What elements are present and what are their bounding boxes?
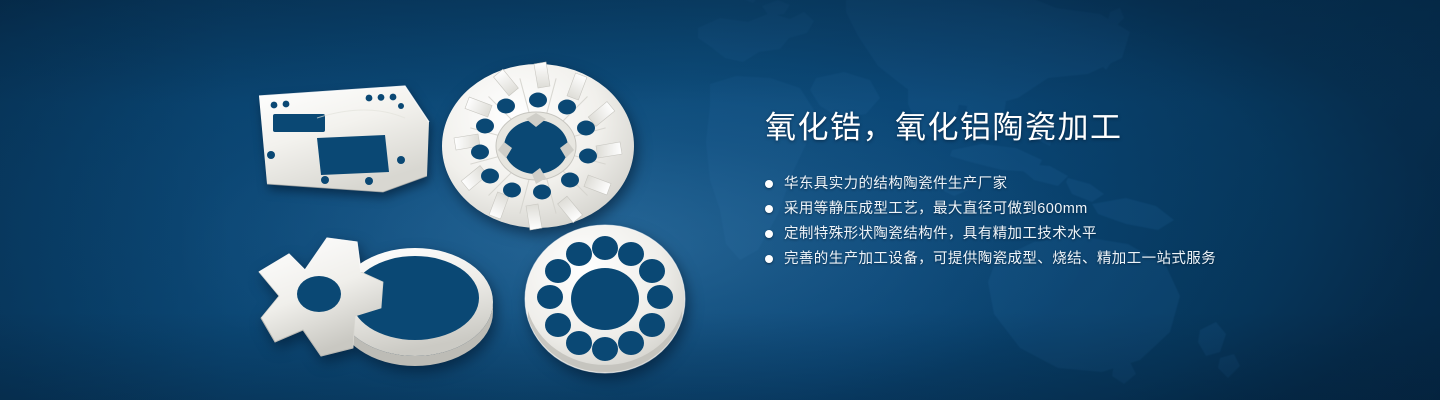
bullet-dot-icon bbox=[765, 180, 773, 188]
list-item-label: 华东具实力的结构陶瓷件生产厂家 bbox=[784, 173, 1008, 195]
list-item: 华东具实力的结构陶瓷件生产厂家 bbox=[765, 173, 1385, 195]
list-item-label: 采用等静压成型工艺，最大直径可做到600mm bbox=[784, 198, 1088, 220]
bullet-dot-icon bbox=[765, 230, 773, 238]
ceramic-machined-plate bbox=[255, 80, 435, 200]
list-item-label: 定制特殊形状陶瓷结构件，具有精加工技术水平 bbox=[784, 223, 1097, 245]
ceramic-vaned-impeller bbox=[430, 50, 650, 235]
bullet-dot-icon bbox=[765, 205, 773, 213]
product-photo-collage bbox=[235, 45, 715, 385]
ceramic-cross-part-and-ring bbox=[245, 220, 515, 380]
hero-banner: 氧化锆，氧化铝陶瓷加工 华东具实力的结构陶瓷件生产厂家 采用等静压成型工艺，最大… bbox=[0, 0, 1440, 400]
feature-list: 华东具实力的结构陶瓷件生产厂家 采用等静压成型工艺，最大直径可做到600mm 定… bbox=[765, 173, 1385, 270]
bullet-dot-icon bbox=[765, 255, 773, 263]
list-item: 完善的生产加工设备，可提供陶瓷成型、烧结、精加工一站式服务 bbox=[765, 248, 1385, 270]
list-item-label: 完善的生产加工设备，可提供陶瓷成型、烧结、精加工一站式服务 bbox=[784, 248, 1216, 270]
list-item: 采用等静压成型工艺，最大直径可做到600mm bbox=[765, 198, 1385, 220]
list-item: 定制特殊形状陶瓷结构件，具有精加工技术水平 bbox=[765, 223, 1385, 245]
ceramic-holed-valve-plate bbox=[510, 215, 700, 380]
banner-copy: 氧化锆，氧化铝陶瓷加工 华东具实力的结构陶瓷件生产厂家 采用等静压成型工艺，最大… bbox=[765, 108, 1385, 273]
page-title: 氧化锆，氧化铝陶瓷加工 bbox=[765, 108, 1385, 148]
